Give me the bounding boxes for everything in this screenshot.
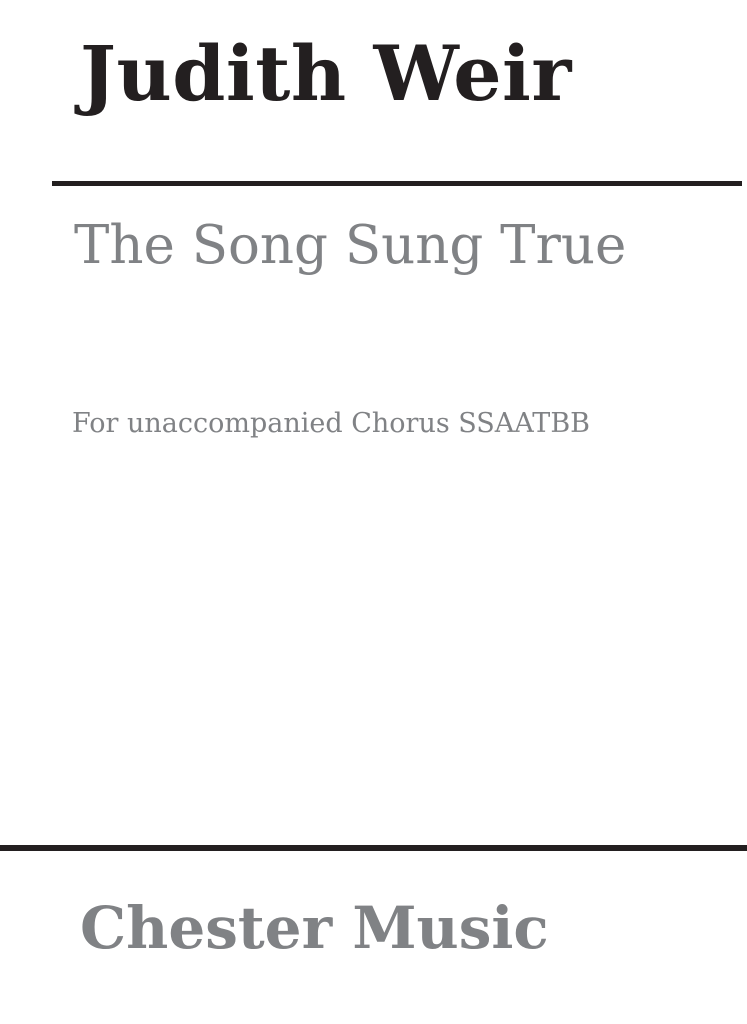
- header-divider-rule: [52, 181, 742, 186]
- publisher-name: Chester Music: [80, 899, 549, 957]
- page-title: The Song Sung True: [74, 218, 626, 274]
- work-subtitle: For unaccompanied Chorus SSAATBB: [72, 408, 590, 440]
- sheet-music-cover-page: Judith Weir The Song Sung True For unacc…: [0, 0, 747, 1024]
- footer-divider-rule: [0, 845, 747, 851]
- composer-name: Judith Weir: [80, 36, 572, 112]
